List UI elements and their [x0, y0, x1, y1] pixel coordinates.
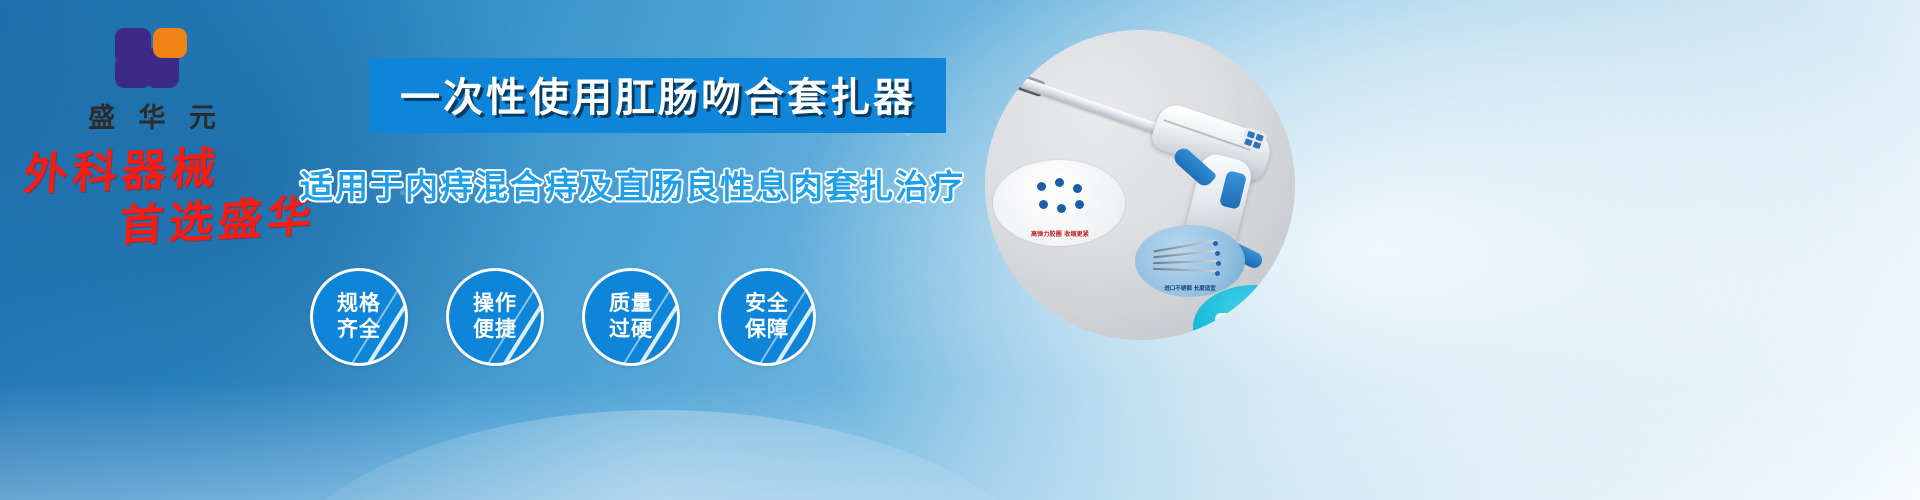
inset-needles-photo: 进口不锈钢 长度适宜: [1135, 225, 1245, 297]
promo-banner: 盛 华 元 外科器械 首选盛华 一次性使用肛肠吻合套扎器 适用于内痔混合痔及直肠…: [0, 0, 1920, 500]
feature-label-line2: 便捷: [473, 317, 517, 343]
feature-badge[interactable]: 安全 保障: [718, 268, 816, 366]
inset-rings-caption: 高弹力胶圈 收缩更紧: [1013, 229, 1107, 238]
headline-bar: 一次性使用肛肠吻合套扎器: [370, 58, 946, 133]
feature-label-line2: 齐全: [337, 317, 381, 343]
subtitle: 适用于内痔混合痔及直肠良性息肉套扎治疗: [300, 160, 965, 208]
ligation-device-photo: 高弹力胶圈 收缩更紧 进口不锈钢 长度适宜: [985, 30, 1295, 340]
background-bottom-fade: [0, 380, 1920, 500]
inset-tube-shape: [1215, 313, 1291, 339]
brand-logo[interactable]: 盛 华 元: [62, 26, 242, 135]
feature-label-line1: 安全: [745, 291, 789, 317]
background-bottom-arc: [250, 410, 1070, 500]
feature-label-line1: 质量: [609, 291, 653, 317]
feature-badge-list: 规格 齐全 操作 便捷 质量 过硬 安全 保障: [310, 268, 816, 366]
brand-name: 盛 华 元: [62, 96, 242, 135]
feature-label-line2: 过硬: [609, 317, 653, 343]
feature-badge[interactable]: 质量 过硬: [582, 268, 680, 366]
inset-rings-photo: 高弹力胶圈 收缩更紧: [993, 160, 1125, 246]
feature-label-line2: 保障: [745, 317, 789, 343]
feature-label-line1: 规格: [337, 291, 381, 317]
page-title: 一次性使用肛肠吻合套扎器: [400, 65, 916, 123]
shenghuayuan-logo-icon: [109, 26, 195, 90]
feature-badge[interactable]: 操作 便捷: [446, 268, 544, 366]
feature-badge[interactable]: 规格 齐全: [310, 268, 408, 366]
device-barrel: [1017, 76, 1168, 137]
feature-label-line1: 操作: [473, 291, 517, 317]
